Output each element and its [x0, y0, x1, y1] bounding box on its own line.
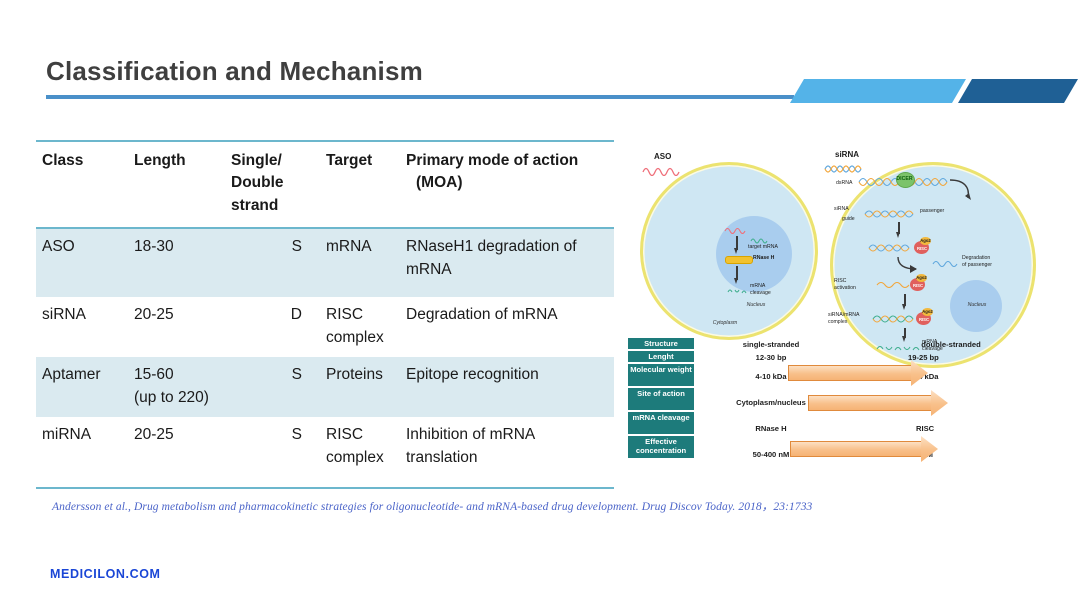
cell-moa-line1: Degradation of mRNA	[406, 304, 604, 326]
sirna-guide-label: guide	[842, 216, 862, 223]
aso-target-mrna-label: target mRNA	[748, 244, 790, 251]
risc-guide-strand-icon	[876, 278, 910, 290]
cell-moa-line1: Inhibition of mRNA	[406, 424, 604, 446]
aso-arrow-head-1	[734, 248, 738, 254]
degradation-line1: Degradation	[962, 255, 990, 261]
sirna-mrna-complex-label: siRNA/mRNA complex	[828, 312, 876, 325]
emphasis-arrow-3-head	[921, 436, 938, 462]
table-row: siRNA 20-25 D RISC complex Degradation o…	[36, 297, 614, 357]
table-row: Aptamer 15-60 (up to 220) S Proteins Epi…	[36, 357, 614, 417]
risc-activation-label: RISC activation	[834, 278, 874, 291]
decorative-banner	[790, 79, 1078, 103]
cell-target-line1: RISC	[326, 304, 402, 326]
degradation-line2: of passenger	[962, 262, 992, 268]
sirna-guide-strand-icon	[864, 206, 922, 220]
table-row: miRNA 20-25 S RISC complex Inhibition of…	[36, 417, 614, 477]
cell-moa-line1: RNaseH1 degradation of	[406, 236, 604, 258]
cell-class: ASO	[36, 229, 134, 297]
sirna-value-cleavage: RISC	[916, 424, 1002, 433]
cell-target: RISC complex	[326, 297, 406, 357]
cell-target-line1: Proteins	[326, 364, 402, 386]
cell-moa: RNaseH1 degradation of mRNA	[406, 229, 608, 297]
cell-target-line1: mRNA	[326, 236, 402, 258]
column-header-target: Target	[326, 142, 406, 227]
citation-text: Andersson et al., Drug metabolism and ph…	[52, 498, 952, 514]
passenger-degraded-icon	[932, 258, 962, 269]
sirna-dsrna-label: dsRNA	[836, 180, 858, 187]
cell-length-line1: 18-30	[134, 236, 227, 258]
cell-length: 20-25	[134, 297, 231, 357]
sirna-arrow-head-1	[896, 232, 900, 238]
cell-target-line1: RISC	[326, 424, 402, 446]
cell-length: 20-25	[134, 417, 231, 477]
complex-line1: siRNA/mRNA	[828, 312, 859, 318]
sirna-loaded-strand-icon	[868, 240, 918, 254]
aso-value-cleavage: RNase H	[706, 424, 836, 433]
comparison-label-mrna-cleavage: mRNA cleavage	[628, 412, 694, 434]
column-header-moa-line2: (MOA)	[406, 172, 606, 194]
cell-length-line2: (up to 220)	[134, 387, 227, 409]
sirna-nucleus-label: Nucleus	[960, 302, 994, 309]
cell-target-line2: complex	[326, 447, 402, 469]
emphasis-arrow-3	[790, 436, 938, 462]
ago2-label-1: Ago2	[920, 238, 931, 243]
cell-moa: Degradation of mRNA	[406, 297, 608, 357]
comparison-label-effective-concentration: Effective concentration	[628, 436, 694, 458]
ago2-label-3: Ago2	[922, 309, 933, 314]
cell-target: mRNA	[326, 229, 406, 297]
aso-cytoplasm-label: Cytoplasm	[702, 320, 748, 327]
cell-moa-line2: translation	[406, 447, 604, 469]
emphasis-arrow-3-body	[790, 441, 921, 457]
brand-logo-text[interactable]: MEDICILON.COM	[50, 567, 161, 581]
cell-moa: Epitope recognition	[406, 357, 608, 417]
cell-class: Aptamer	[36, 357, 134, 417]
sirna-arrow-head-2	[902, 304, 906, 310]
aso-oligo-bound-icon	[724, 225, 750, 234]
risc-label-2: RISC	[911, 283, 925, 288]
column-header-length: Length	[134, 142, 231, 227]
risc-activation-line2: activation	[834, 285, 856, 291]
sirna-value-structure: double-stranded	[886, 340, 1016, 349]
risc-label-1: RISC	[915, 246, 929, 251]
cell-target: RISC complex	[326, 417, 406, 477]
cell-target: Proteins	[326, 357, 406, 417]
column-header-moa: Primary mode of action (MOA)	[406, 142, 608, 227]
cell-length: 15-60 (up to 220)	[134, 357, 231, 417]
page-title: Classification and Mechanism	[46, 56, 423, 87]
sirna-passenger-label: passenger	[920, 208, 950, 215]
cell-moa-line1: Epitope recognition	[406, 364, 604, 386]
emphasis-arrow-1-body	[788, 365, 911, 381]
sirna-mrna-duplex-icon	[872, 312, 920, 325]
cell-moa-line2: mRNA	[406, 259, 604, 281]
cell-class: miRNA	[36, 417, 134, 477]
comparison-label-column: Structure Lenght Molecular weight Site o…	[628, 338, 694, 460]
cell-class: siRNA	[36, 297, 134, 357]
aso-figure-title: ASO	[654, 152, 671, 161]
aso-value-structure: single-stranded	[706, 340, 836, 349]
ago2-label-2: Ago2	[916, 275, 927, 280]
passenger-degradation-label: Degradation of passenger	[962, 255, 1010, 268]
table-rule-bottom	[36, 487, 614, 489]
emphasis-arrow-2-body	[808, 395, 931, 411]
comparison-label-molecular-weight: Molecular weight	[628, 364, 694, 386]
column-header-strand-line2: Double	[231, 172, 322, 194]
aso-mrna-cleavage-line1: mRNA	[750, 283, 765, 289]
aso-cleaved-mrna-icon	[727, 286, 751, 296]
cell-length-line1: 15-60	[134, 364, 227, 386]
column-header-strand-line1: Single/	[231, 150, 322, 172]
classification-table: Class Length Single/ Double strand Targe…	[36, 140, 614, 489]
complex-line2: complex	[828, 319, 847, 325]
emphasis-arrow-2-head	[931, 390, 948, 416]
cell-target-line2: complex	[326, 327, 402, 349]
sirna-figure-title: siRNA	[835, 150, 859, 159]
emphasis-arrow-1-head	[911, 360, 928, 386]
column-header-strand: Single/ Double strand	[231, 142, 326, 227]
cell-moa: Inhibition of mRNA translation	[406, 417, 608, 477]
banner-chevron-dark	[958, 79, 1078, 103]
risc-activation-line1: RISC	[834, 278, 846, 284]
comparison-label-structure: Structure	[628, 338, 694, 349]
column-header-class: Class	[36, 142, 134, 227]
emphasis-arrow-2	[808, 390, 948, 416]
aso-mrna-cleavage-label: mRNA cleavage	[750, 283, 786, 296]
aso-oligo-squiggle-icon	[642, 164, 682, 176]
emphasis-arrow-1	[788, 360, 928, 386]
aso-rnaseh-bar	[725, 256, 753, 264]
aso-target-mrna-icon	[750, 236, 772, 244]
cell-strand: S	[231, 357, 326, 417]
risc-label-3: RISC	[917, 317, 931, 322]
dicer-label: DICER	[896, 176, 913, 183]
comparison-label-length: Lenght	[628, 351, 694, 362]
column-header-strand-line3: strand	[231, 195, 322, 217]
aso-nucleus-label: Nucleus	[736, 302, 776, 309]
comparison-label-site-of-action: Site of action	[628, 388, 694, 410]
table-row: ASO 18-30 S mRNA RNaseH1 degradation of …	[36, 229, 614, 297]
comparison-table: Structure Lenght Molecular weight Site o…	[628, 338, 1080, 470]
aso-rnase-h-label: RNase H	[753, 255, 785, 262]
cell-strand: S	[231, 229, 326, 297]
sirna-label: siRNA	[834, 206, 858, 213]
column-header-moa-line1: Primary mode of action	[406, 150, 606, 172]
cell-length-line1: 20-25	[134, 424, 227, 446]
banner-chevron-light	[790, 79, 966, 103]
cell-length: 18-30	[134, 229, 231, 297]
cell-length-line1: 20-25	[134, 304, 227, 326]
cell-strand: S	[231, 417, 326, 477]
title-underline-rule	[46, 95, 794, 99]
table-header-row: Class Length Single/ Double strand Targe…	[36, 142, 614, 227]
cell-strand: D	[231, 297, 326, 357]
aso-arrow-head-2	[734, 278, 738, 284]
dicer-curved-arrow-icon	[948, 178, 974, 204]
aso-mrna-cleavage-line2: cleavage	[750, 290, 771, 296]
